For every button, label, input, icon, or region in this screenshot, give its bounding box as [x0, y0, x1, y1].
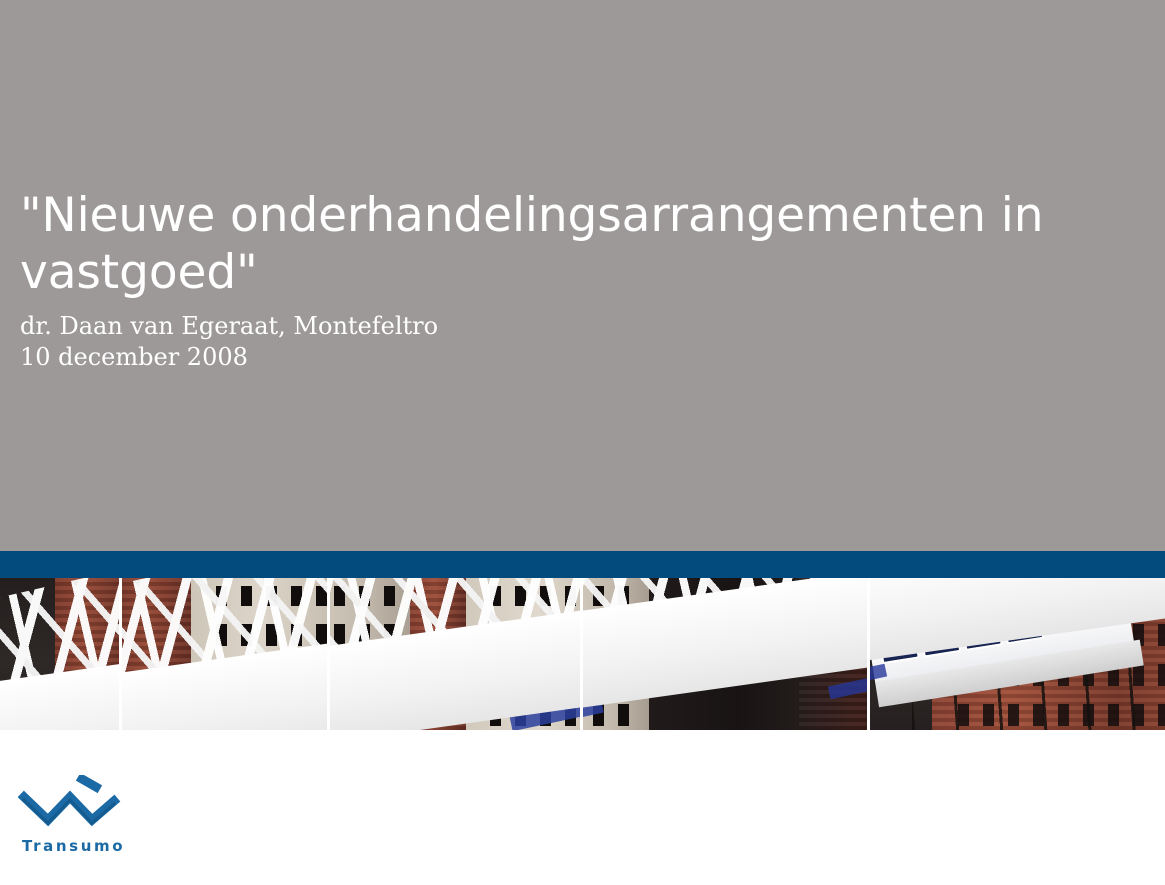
transumo-wordmark: Transumo: [18, 837, 148, 855]
zigzag-wave-mark-icon: [18, 775, 122, 833]
title-block: "Nieuwe onderhandelingsarrangementen in …: [20, 188, 1110, 374]
slide-footer: Transumo: [0, 730, 1165, 885]
title-band: "Nieuwe onderhandelingsarrangementen in …: [0, 0, 1165, 551]
photo-panel: [330, 578, 580, 730]
photo-strip: [0, 578, 1165, 730]
slide-date: 10 december 2008: [20, 342, 1110, 374]
slide-presenter: dr. Daan van Egeraat, Montefeltro: [20, 311, 1110, 343]
photo-panel: [0, 578, 119, 730]
transumo-logo: Transumo: [18, 775, 148, 855]
slide-title: "Nieuwe onderhandelingsarrangementen in …: [20, 188, 1110, 302]
photo-panel: [583, 578, 867, 730]
presentation-title-slide: "Nieuwe onderhandelingsarrangementen in …: [0, 0, 1165, 885]
separator-bar: [0, 551, 1165, 578]
photo-panel: [122, 578, 327, 730]
photo-panel: [870, 578, 1165, 730]
